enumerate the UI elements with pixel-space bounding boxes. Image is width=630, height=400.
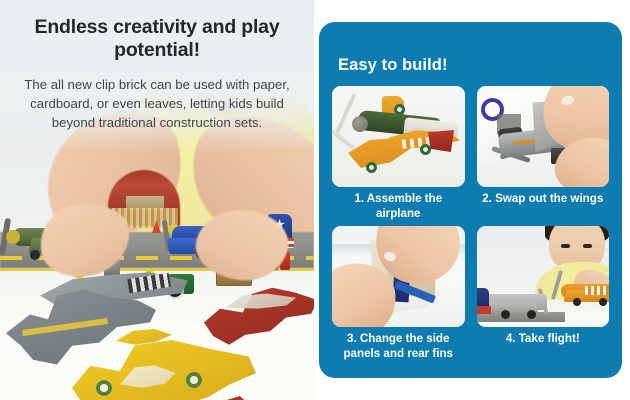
- landing-wheel: [501, 310, 510, 319]
- page-title: Endless creativity and play potential!: [16, 16, 298, 62]
- rear-fin: [428, 130, 454, 152]
- step-2-caption: 2. Swap out the wings: [477, 192, 610, 207]
- step-tile-3[interactable]: 3. Change the side panels and rear fins: [332, 226, 465, 362]
- step-1-caption: 1. Assemble the airplane: [332, 192, 465, 221]
- child-eye: [561, 244, 570, 248]
- roundel-icon: [394, 104, 405, 115]
- landing-wheel: [599, 298, 607, 306]
- steps-grid: 1. Assemble the airplane: [332, 86, 609, 362]
- step-tile-2[interactable]: 2. Swap out the wings: [477, 86, 610, 222]
- promo-banner: Endless creativity and play potential! T…: [0, 0, 630, 400]
- right-steps-panel: Easy to build!: [314, 0, 630, 400]
- wing-stripes: [585, 286, 609, 295]
- easy-to-build-card: Easy to build!: [319, 22, 622, 378]
- roundel-icon: [420, 144, 431, 155]
- step-3-image: [332, 226, 465, 327]
- step-tile-4[interactable]: 4. Take flight!: [477, 226, 610, 362]
- silver-toy-airplane: [477, 288, 555, 320]
- roundel-icon: [96, 380, 112, 396]
- orange-toy-airplane: [555, 274, 610, 308]
- step-1-image: [332, 86, 465, 187]
- card-title: Easy to build!: [338, 56, 448, 75]
- landing-wheel: [573, 298, 581, 306]
- red-trim: [477, 306, 491, 314]
- landing-wheel: [30, 250, 40, 260]
- child-eye: [583, 244, 592, 248]
- landing-wheel: [527, 310, 536, 319]
- hero-photo: [0, 92, 314, 400]
- nose-cone: [352, 116, 368, 132]
- step-tile-1[interactable]: 1. Assemble the airplane: [332, 86, 465, 222]
- tail-fin: [477, 288, 489, 308]
- step-2-image: [477, 86, 610, 187]
- step-3-caption: 3. Change the side panels and rear fins: [332, 332, 465, 361]
- left-promo-panel: Endless creativity and play potential! T…: [0, 0, 314, 400]
- step-4-caption: 4. Take flight!: [477, 332, 610, 347]
- page-subtitle: The all new clip brick can be used with …: [13, 75, 301, 132]
- roundel-icon: [186, 372, 202, 388]
- nose-cone: [6, 230, 20, 244]
- step-4-image: [477, 226, 610, 327]
- roundel-icon: [366, 162, 377, 173]
- left-copy-block: Endless creativity and play potential! T…: [0, 0, 314, 132]
